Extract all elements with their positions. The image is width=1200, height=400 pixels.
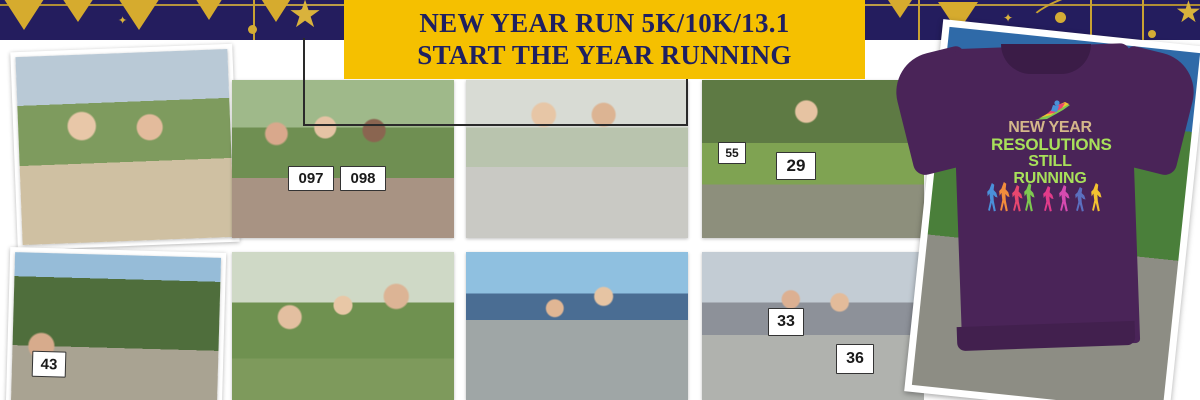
new-year-run-promo-banner: ✦ ✦ ✦ ★ ★ ★ 097 098 55 29 43 33 36 bbox=[0, 0, 1200, 400]
race-bib: 097 bbox=[288, 166, 334, 191]
race-bib: 098 bbox=[340, 166, 386, 191]
streamer-bar bbox=[253, 0, 255, 40]
tshirt-line-new-year: NEW YEAR bbox=[991, 120, 1109, 136]
race-bib: 29 bbox=[776, 152, 816, 180]
bunting-triangle bbox=[2, 0, 46, 30]
runner-silhouette bbox=[1075, 187, 1086, 212]
bunting-triangle bbox=[190, 0, 228, 20]
list-item bbox=[232, 252, 454, 400]
runner-silhouette bbox=[987, 183, 998, 212]
new-year-resolutions-tshirt: NEW YEAR RESOLUTIONS STILL RUNNING bbox=[895, 24, 1195, 384]
runner-silhouette bbox=[999, 182, 1010, 212]
runner-silhouette bbox=[1091, 183, 1102, 212]
overlay-frame-line bbox=[303, 124, 688, 126]
hanging-dot bbox=[248, 25, 257, 34]
tshirt-product-area: NEW YEAR RESOLUTIONS STILL RUNNING bbox=[895, 18, 1200, 400]
photo-frame bbox=[10, 44, 239, 250]
list-item bbox=[466, 80, 688, 238]
headline-banner: NEW YEAR RUN 5K/10K/13.1 START THE YEAR … bbox=[344, 0, 865, 79]
list-item: 33 36 bbox=[702, 252, 924, 400]
star-icon: ✦ bbox=[118, 16, 127, 27]
race-bib: 36 bbox=[836, 344, 874, 374]
bunting-triangle bbox=[880, 0, 920, 18]
list-item bbox=[466, 252, 688, 400]
runner-silhouette bbox=[1024, 183, 1035, 212]
headline-line-1: NEW YEAR RUN 5K/10K/13.1 bbox=[419, 9, 789, 38]
list-item: 43 bbox=[11, 252, 221, 400]
overlay-frame-line bbox=[303, 38, 305, 126]
runner-silhouette bbox=[1059, 185, 1070, 212]
tshirt-line-resolutions: RESOLUTIONS bbox=[991, 136, 1109, 154]
bunting-triangle bbox=[58, 0, 98, 22]
runner-silhouette bbox=[1043, 186, 1054, 212]
tshirt-hem bbox=[957, 321, 1136, 351]
race-bib: 43 bbox=[32, 351, 67, 378]
list-item: 55 29 bbox=[702, 80, 924, 238]
headline-line-2: START THE YEAR RUNNING bbox=[417, 41, 791, 70]
photo-frame: 43 bbox=[6, 247, 226, 400]
race-bib: 55 bbox=[718, 142, 746, 164]
runner-silhouette bbox=[1012, 185, 1023, 212]
runner-silhouette-row bbox=[987, 178, 1115, 212]
race-bib: 33 bbox=[768, 308, 804, 336]
list-item: 097 098 bbox=[232, 80, 454, 238]
star-icon: ★ bbox=[288, 0, 322, 34]
list-item bbox=[15, 49, 234, 245]
